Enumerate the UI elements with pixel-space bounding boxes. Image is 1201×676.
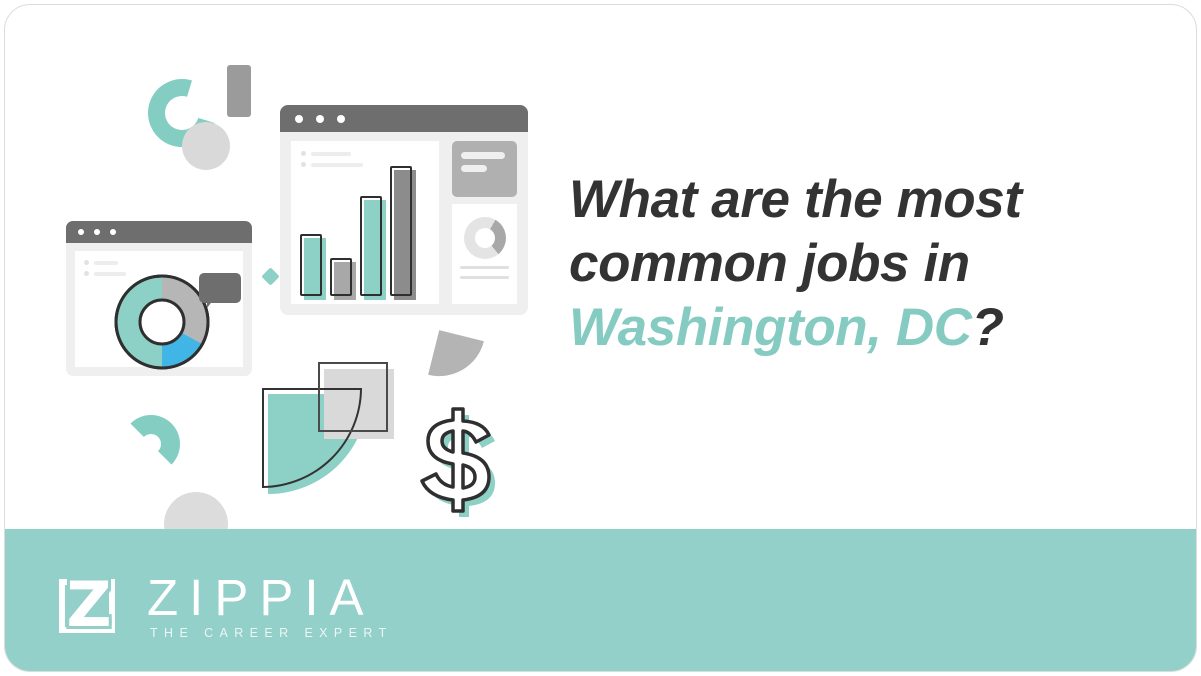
legend-dot-icon (84, 271, 89, 276)
window-dot-icon (316, 115, 324, 123)
teal-quarter-arc-shape (122, 415, 180, 473)
info-card (452, 141, 517, 197)
pie-tooltip-pointer (207, 299, 214, 308)
bar-outline (360, 196, 382, 296)
gray-circle-small-shape (182, 122, 230, 170)
small-browser-window (66, 221, 252, 376)
bar-chart-bar (390, 166, 412, 296)
donut-chart (464, 217, 506, 259)
donut-card-line (460, 266, 509, 269)
zippia-logo[interactable]: Z ZIPPIA THE CAREER EXPERT (57, 572, 393, 640)
window-dot-icon (94, 229, 100, 235)
teal-diamond-shape (261, 267, 279, 285)
headline-line-1: What are the most (569, 170, 1022, 229)
brand-tagline: THE CAREER EXPERT (150, 626, 393, 640)
donut-card (452, 204, 517, 304)
bar-outline (330, 258, 352, 296)
info-card-line (461, 152, 505, 159)
window-dot-icon (78, 229, 84, 235)
bar-chart-bars (300, 166, 412, 296)
brand-name: ZIPPIA (147, 572, 393, 624)
bar-chart-bar (330, 258, 352, 296)
bar-outline (300, 234, 322, 296)
big-window-body (291, 141, 517, 304)
headline-suffix: ? (972, 298, 1004, 357)
gray-bar-top-shape (227, 65, 251, 117)
small-window-body (75, 251, 243, 367)
dollar-sign-icon (409, 407, 509, 517)
window-dot-icon (110, 229, 116, 235)
promo-card: What are the most common jobs in Washing… (4, 4, 1197, 672)
gray-square-outline (318, 362, 388, 432)
bar-chart-panel (291, 141, 439, 304)
headline-accent: Washington, DC (569, 298, 972, 357)
donut-card-line (460, 276, 509, 279)
gray-wedge-shape (428, 330, 484, 386)
legend-bar (311, 152, 351, 156)
zippia-logo-text: ZIPPIA THE CAREER EXPERT (147, 572, 393, 640)
legend-item (301, 151, 363, 156)
zippia-logo-mark-icon: Z (57, 575, 119, 637)
bar-outline (390, 166, 412, 296)
window-dot-icon (337, 115, 345, 123)
info-card-line (461, 165, 487, 172)
window-dot-icon (295, 115, 303, 123)
side-column (452, 141, 517, 304)
logo-z-letter: Z (57, 573, 119, 639)
legend-dot-icon (301, 151, 306, 156)
page-title: What are the most common jobs in Washing… (569, 168, 1169, 360)
bar-chart-bar (300, 234, 322, 296)
bar-chart-bar (360, 196, 382, 296)
legend-item (84, 260, 126, 265)
headline-line-2: common jobs in (569, 234, 970, 293)
small-window-titlebar (66, 221, 252, 243)
big-window-titlebar (280, 105, 528, 132)
legend-bar (94, 261, 118, 265)
pie-tooltip (199, 273, 241, 303)
big-browser-window (280, 105, 528, 315)
legend-dot-icon (84, 260, 89, 265)
